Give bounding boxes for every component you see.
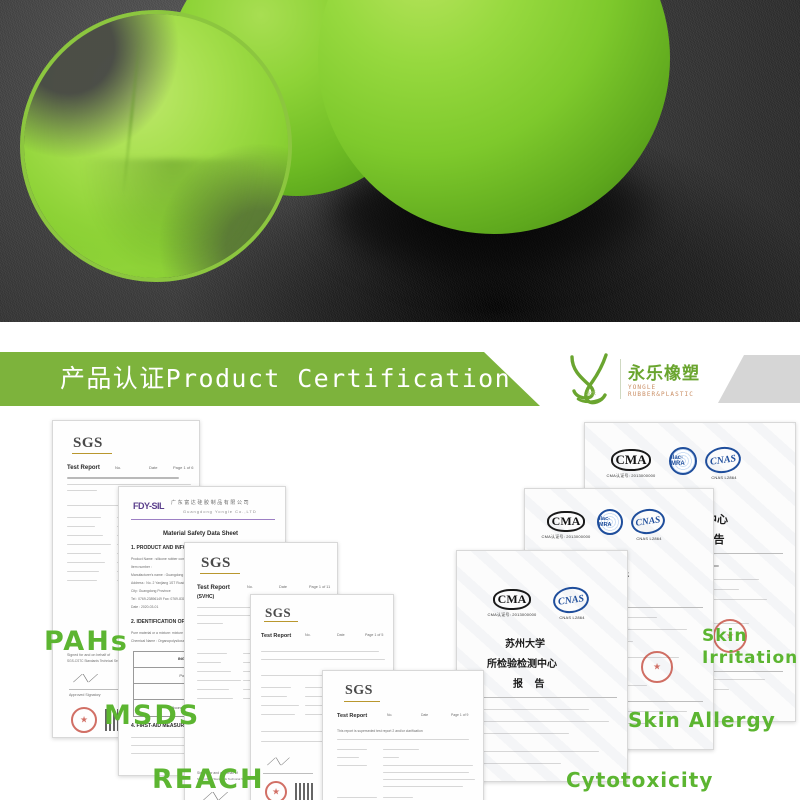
report-title: Test Report	[197, 585, 230, 591]
text-line	[469, 751, 599, 752]
logo-name-en: YONGLE RUBBER&PLASTIC	[628, 384, 714, 398]
report-number: No.	[305, 633, 311, 637]
product-certification-page: 产品认证Product Certification 永乐 永乐橡塑 YONGLE…	[0, 0, 800, 800]
report-title: Test Report	[337, 713, 367, 719]
cma-mark-icon: CMA	[493, 589, 531, 610]
field-label	[261, 687, 291, 688]
report-date: Date	[149, 465, 157, 470]
field-value	[383, 797, 413, 798]
company-logo: 永乐 永乐橡塑 YONGLE RUBBER&PLASTIC	[566, 351, 714, 407]
sgs-underline	[264, 621, 298, 622]
msds-title: Material Safety Data Sheet	[163, 531, 238, 537]
banner-gray-shape	[718, 355, 800, 403]
report-number: No.	[115, 465, 121, 470]
msds-row: City: Guangdong Province	[131, 589, 171, 593]
label-pahs: PAHs	[44, 626, 129, 657]
field-value	[383, 779, 475, 780]
msds-company-cn: 广东富达硅胶制品有限公司	[171, 499, 250, 506]
report-date: Date	[279, 585, 287, 589]
sgs-logo: SGS	[345, 683, 373, 699]
product-crease-lower	[77, 159, 267, 280]
sgs-underline	[344, 701, 380, 702]
cma-mark-icon: CMA	[547, 511, 585, 532]
field-value	[383, 749, 419, 750]
cma-caption: CMA认证号: 2013000000	[541, 534, 591, 540]
field-label	[337, 757, 359, 758]
label-cytotoxicity: Cytotoxicity	[566, 768, 713, 792]
label-skin-irritation-line1: Skin	[702, 626, 747, 646]
text-line	[197, 623, 223, 624]
field-label	[197, 653, 227, 654]
official-stamp	[641, 651, 673, 683]
signature: ⟋⟍⟋	[267, 757, 288, 768]
certificate-collage: CMA CMA认证号: 2013000000 ilac-MRA CNAS CNA…	[0, 408, 800, 800]
cnas-caption: CNAS L2864	[551, 615, 593, 620]
report-page: Page 1 of 6	[173, 465, 193, 470]
report-number: No.	[247, 585, 253, 589]
field-label	[197, 689, 229, 690]
field-label	[67, 571, 99, 572]
report-date: Date	[421, 713, 428, 717]
field-label	[197, 662, 221, 663]
svg-text:永乐: 永乐	[586, 390, 596, 397]
report-page: Page 1 of 9	[451, 713, 468, 717]
divider	[131, 519, 275, 520]
cma-caption: CMA认证号: 2013000000	[487, 612, 537, 618]
text-line	[469, 709, 589, 710]
sgs-underline	[200, 573, 240, 574]
text-line	[261, 659, 385, 660]
product-photo	[0, 0, 800, 322]
cn-lab-report: 报 告	[513, 675, 548, 690]
signature-rule	[263, 773, 313, 774]
field-label	[261, 696, 287, 697]
field-label	[197, 680, 241, 681]
cma-caption: CMA认证号: 2013000000	[605, 473, 657, 479]
cnas-caption: CNAS L2864	[703, 475, 745, 480]
report-subtitle: (SVHC)	[197, 594, 214, 600]
text-line	[67, 484, 191, 485]
msds-row: Date : 2020-03-01	[131, 605, 158, 609]
ilac-mra-mark-icon: ilac-MRA	[597, 509, 623, 535]
report-page: Page 1 of 5	[365, 633, 383, 637]
signature-rule	[69, 689, 125, 690]
msds-brand-mark: FDY-SIL	[133, 501, 164, 511]
cnas-caption: CNAS L2864	[629, 536, 669, 541]
signatory-role: Approved Signatory	[69, 693, 101, 697]
field-value	[383, 786, 463, 787]
sgs-underline	[72, 453, 112, 454]
field-label	[67, 580, 97, 581]
msds-row: Item number :	[131, 565, 152, 569]
field-value	[383, 765, 473, 766]
report-title: Test Report	[261, 633, 291, 639]
field-label	[337, 749, 367, 750]
report-note: This report is superseded test report 2 …	[337, 729, 423, 733]
sgs-logo: SGS	[201, 555, 231, 572]
text-line	[337, 739, 469, 740]
field-label	[261, 714, 295, 715]
official-stamp	[265, 781, 287, 800]
field-label	[337, 797, 377, 798]
text-line	[67, 490, 97, 491]
field-label	[197, 671, 231, 672]
sgs-logo: SGS	[73, 435, 103, 452]
field-value	[383, 772, 469, 773]
divider	[469, 697, 617, 698]
yongle-leaf-mark-icon: 永乐	[566, 351, 616, 407]
field-value	[383, 757, 399, 758]
sgs-logo: SGS	[265, 605, 291, 621]
report-date: Date	[337, 633, 345, 637]
cn-lab-subtitle: 所检验检测中心	[487, 655, 557, 670]
msds-row: Pure material or a mixture: mixture	[131, 631, 183, 635]
field-label	[67, 553, 101, 554]
label-skin-allergy: Skin Allergy	[628, 708, 776, 732]
field-label	[197, 698, 233, 699]
certificate-sgs-bottom[interactable]: SGS Test Report No. Date Page 1 of 9 Thi…	[322, 670, 484, 800]
field-label	[261, 705, 299, 706]
field-label	[337, 765, 367, 766]
magnifier-overlay	[20, 10, 292, 282]
ilac-mra-mark-icon: ilac-MRA	[669, 447, 697, 475]
field-label	[67, 562, 105, 563]
logo-name-cn: 永乐橡塑	[628, 359, 700, 384]
msds-company-en: Guangdong Yongle Co.,LTD	[183, 509, 257, 514]
cn-lab-title: 苏州大学	[505, 635, 545, 650]
logo-divider	[620, 359, 621, 399]
text-line	[469, 721, 609, 722]
label-reach: REACH	[152, 764, 265, 795]
signature: ⟋⟍⟋	[73, 673, 96, 686]
field-label	[67, 535, 103, 536]
text-line	[67, 477, 179, 479]
label-skin-irritation-line2: Irritation	[702, 648, 798, 668]
field-label	[67, 517, 101, 518]
report-title: Test Report	[67, 465, 100, 471]
text-line	[469, 733, 569, 734]
official-stamp	[71, 707, 97, 733]
cma-mark-icon: CMA	[611, 449, 651, 471]
label-msds: MSDS	[104, 700, 200, 731]
field-label	[67, 526, 95, 527]
report-number: No.	[387, 713, 392, 717]
field-label	[67, 544, 111, 545]
report-page: Page 1 of 11	[309, 585, 330, 589]
qr-code	[295, 783, 313, 800]
text-line	[261, 651, 379, 652]
page-title: 产品认证Product Certification	[60, 352, 511, 406]
